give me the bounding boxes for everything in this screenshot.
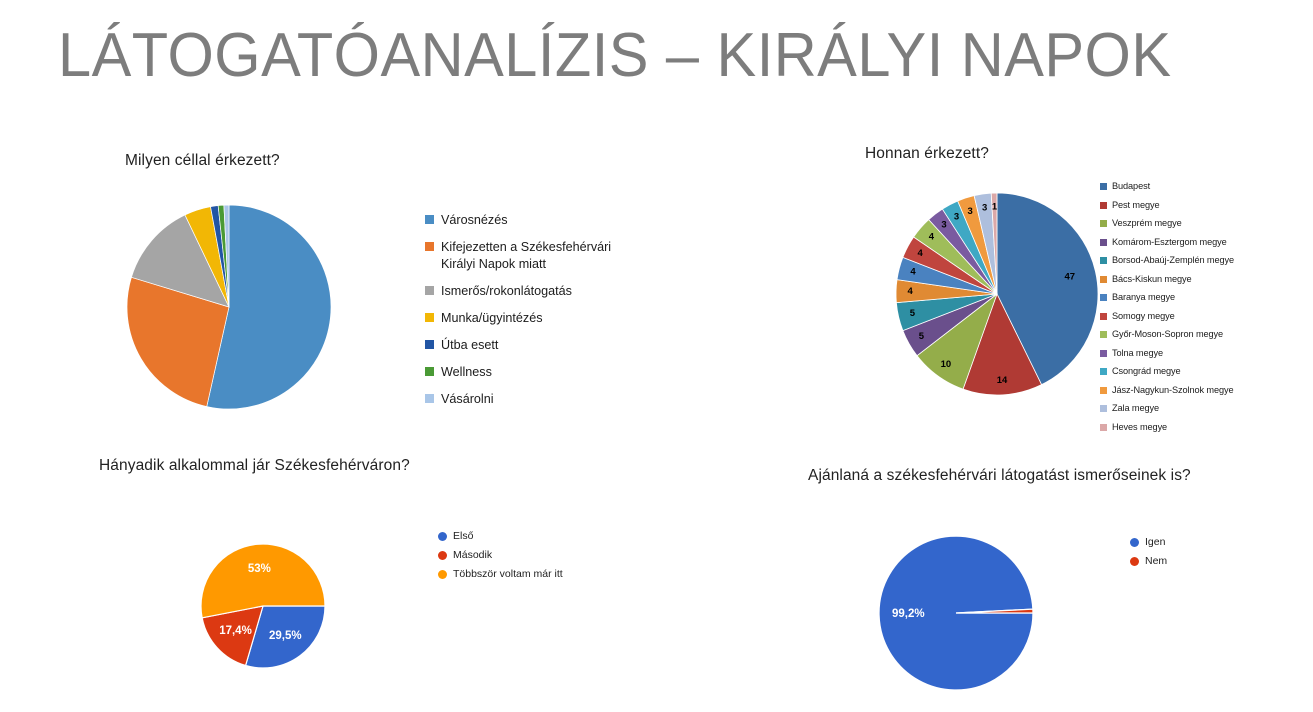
origin-legend-item[interactable]: Somogy megye — [1100, 311, 1305, 322]
visit-count-legend-item[interactable]: Többször voltam már itt — [438, 567, 638, 581]
pie-slice-label: 3 — [941, 220, 946, 231]
origin-legend-item[interactable]: Veszprém megye — [1100, 218, 1305, 229]
legend-swatch-icon — [438, 551, 447, 560]
legend-item-label: Munka/ügyintézés — [441, 310, 543, 327]
legend-swatch-icon — [1100, 350, 1107, 357]
legend-swatch-icon — [425, 242, 434, 251]
origin-legend-item[interactable]: Komárom-Esztergom megye — [1100, 237, 1305, 248]
legend-item-label: Pest megye — [1112, 200, 1160, 211]
origin-legend-item[interactable]: Győr-Moson-Sopron megye — [1100, 329, 1305, 340]
origin-legend-item[interactable]: Csongrád megye — [1100, 366, 1305, 377]
pie-slice-label: 5 — [910, 308, 916, 319]
legend-swatch-icon — [425, 286, 434, 295]
legend-swatch-icon — [1100, 202, 1107, 209]
legend-swatch-icon — [1100, 313, 1107, 320]
legend-origin: BudapestPest megyeVeszprém megyeKomárom-… — [1100, 181, 1305, 440]
legend-swatch-icon — [425, 394, 434, 403]
pie-chart-recommend: 99,2% — [878, 535, 1036, 693]
legend-swatch-icon — [438, 570, 447, 579]
pie-slice-label: 17,4% — [219, 625, 252, 637]
pie-slice-label: 4 — [918, 248, 924, 259]
chart-visit-count: Hányadik alkalommal jár Székesfehérváron… — [0, 440, 700, 712]
legend-purpose: VárosnézésKifejezetten a Székesfehérvári… — [425, 212, 665, 418]
legend-swatch-icon — [1130, 538, 1139, 547]
origin-legend-item[interactable]: Pest megye — [1100, 200, 1305, 211]
legend-swatch-icon — [1100, 405, 1107, 412]
legend-swatch-icon — [1100, 368, 1107, 375]
visit-count-legend-item[interactable]: Első — [438, 529, 638, 543]
legend-item-label: Budapest — [1112, 181, 1150, 192]
legend-item-label: Kifejezetten a Székesfehérvári Királyi N… — [441, 239, 611, 273]
pie-slice-label: 4 — [908, 286, 914, 297]
origin-legend-item[interactable]: Zala megye — [1100, 403, 1305, 414]
origin-legend-item[interactable]: Budapest — [1100, 181, 1305, 192]
legend-item-label: Heves megye — [1112, 422, 1167, 433]
legend-item-label: Zala megye — [1112, 403, 1159, 414]
legend-item-label: Somogy megye — [1112, 311, 1175, 322]
legend-item-label: Veszprém megye — [1112, 218, 1182, 229]
pie-slice-label: 3 — [982, 203, 987, 214]
origin-legend-item[interactable]: Tolna megye — [1100, 348, 1305, 359]
origin-legend-item[interactable]: Baranya megye — [1100, 292, 1305, 303]
chart-recommend-title: Ajánlaná a székesfehérvári látogatást is… — [808, 467, 1191, 485]
legend-swatch-icon — [1100, 183, 1107, 190]
pie-slice-label: 5 — [919, 331, 925, 342]
legend-item-label: Útba esett — [441, 337, 498, 354]
legend-item-label: Ismerős/rokonlátogatás — [441, 283, 572, 300]
legend-item-label: Vásárolni — [441, 391, 494, 408]
purpose-legend-item[interactable]: Kifejezetten a Székesfehérvári Királyi N… — [425, 239, 665, 273]
purpose-legend-item[interactable]: Munka/ügyintézés — [425, 310, 665, 327]
purpose-legend-item[interactable]: Ismerős/rokonlátogatás — [425, 283, 665, 300]
purpose-legend-item[interactable]: Vásárolni — [425, 391, 665, 408]
legend-swatch-icon — [1100, 239, 1107, 246]
purpose-legend-item[interactable]: Wellness — [425, 364, 665, 381]
legend-item-label: Bács-Kiskun megye — [1112, 274, 1192, 285]
pie-chart-visit-count: 29,5%17,4%53% — [200, 543, 328, 671]
legend-swatch-icon — [1100, 276, 1107, 283]
legend-item-label: Wellness — [441, 364, 492, 381]
pie-chart-origin: 47141055444433331 — [895, 190, 1105, 400]
legend-item-label: Borsod-Abaúj-Zemplén megye — [1112, 255, 1234, 266]
legend-item-label: Városnézés — [441, 212, 508, 229]
chart-origin-title: Honnan érkezett? — [865, 145, 989, 163]
legend-item-label: Első — [453, 529, 473, 543]
legend-item-label: Tolna megye — [1112, 348, 1163, 359]
pie-slice-label: 4 — [929, 232, 935, 243]
legend-item-label: Győr-Moson-Sopron megye — [1112, 329, 1223, 340]
legend-swatch-icon — [1100, 257, 1107, 264]
pie-slice-label: 10 — [941, 359, 952, 370]
legend-swatch-icon — [1100, 294, 1107, 301]
pie-slice-label: 1 — [992, 202, 998, 213]
origin-legend-item[interactable]: Bács-Kiskun megye — [1100, 274, 1305, 285]
legend-swatch-icon — [1130, 557, 1139, 566]
legend-swatch-icon — [425, 215, 434, 224]
legend-item-label: Igen — [1145, 535, 1165, 549]
chart-visit-count-title: Hányadik alkalommal jár Székesfehérváron… — [99, 457, 410, 475]
chart-recommend: Ajánlaná a székesfehérvári látogatást is… — [650, 440, 1313, 712]
legend-swatch-icon — [1100, 220, 1107, 227]
legend-item-label: Baranya megye — [1112, 292, 1175, 303]
pie-slice-label: 47 — [1065, 272, 1076, 283]
recommend-legend-item[interactable]: Igen — [1130, 535, 1290, 549]
pie-slice-label: 53% — [248, 563, 271, 575]
legend-swatch-icon — [1100, 424, 1107, 431]
slide-canvas: LÁTOGATÓANALÍZIS – KIRÁLYI NAPOK Milyen … — [0, 0, 1313, 712]
chart-purpose-title: Milyen céllal érkezett? — [125, 152, 280, 170]
pie-slice-label: 99,2% — [892, 608, 925, 620]
legend-item-label: Második — [453, 548, 492, 562]
origin-legend-item[interactable]: Borsod-Abaúj-Zemplén megye — [1100, 255, 1305, 266]
recommend-legend-item[interactable]: Nem — [1130, 554, 1290, 568]
legend-swatch-icon — [425, 340, 434, 349]
legend-recommend: IgenNem — [1130, 535, 1290, 573]
origin-legend-item[interactable]: Heves megye — [1100, 422, 1305, 433]
legend-item-label: Komárom-Esztergom megye — [1112, 237, 1227, 248]
legend-swatch-icon — [425, 367, 434, 376]
pie-slice-label: 3 — [954, 212, 959, 223]
legend-swatch-icon — [1100, 387, 1107, 394]
legend-item-label: Többször voltam már itt — [453, 567, 563, 581]
legend-item-label: Nem — [1145, 554, 1167, 568]
legend-item-label: Jász-Nagykun-Szolnok megye — [1112, 385, 1234, 396]
purpose-legend-item[interactable]: Városnézés — [425, 212, 665, 229]
chart-purpose: Milyen céllal érkezett? VárosnézésKifeje… — [0, 0, 700, 440]
purpose-legend-item[interactable]: Útba esett — [425, 337, 665, 354]
legend-visit-count: ElsőMásodikTöbbször voltam már itt — [438, 529, 638, 586]
chart-origin: Honnan érkezett? 47141055444433331 Budap… — [650, 0, 1313, 440]
legend-item-label: Csongrád megye — [1112, 366, 1181, 377]
legend-swatch-icon — [425, 313, 434, 322]
visit-count-legend-item[interactable]: Második — [438, 548, 638, 562]
origin-legend-item[interactable]: Jász-Nagykun-Szolnok megye — [1100, 385, 1305, 396]
pie-slice-label: 29,5% — [269, 630, 302, 642]
pie-chart-purpose — [125, 198, 340, 416]
legend-swatch-icon — [438, 532, 447, 541]
pie-slice-label: 4 — [910, 266, 916, 277]
pie-slice-label: 3 — [968, 206, 973, 217]
pie-slice-label: 14 — [997, 375, 1008, 386]
legend-swatch-icon — [1100, 331, 1107, 338]
